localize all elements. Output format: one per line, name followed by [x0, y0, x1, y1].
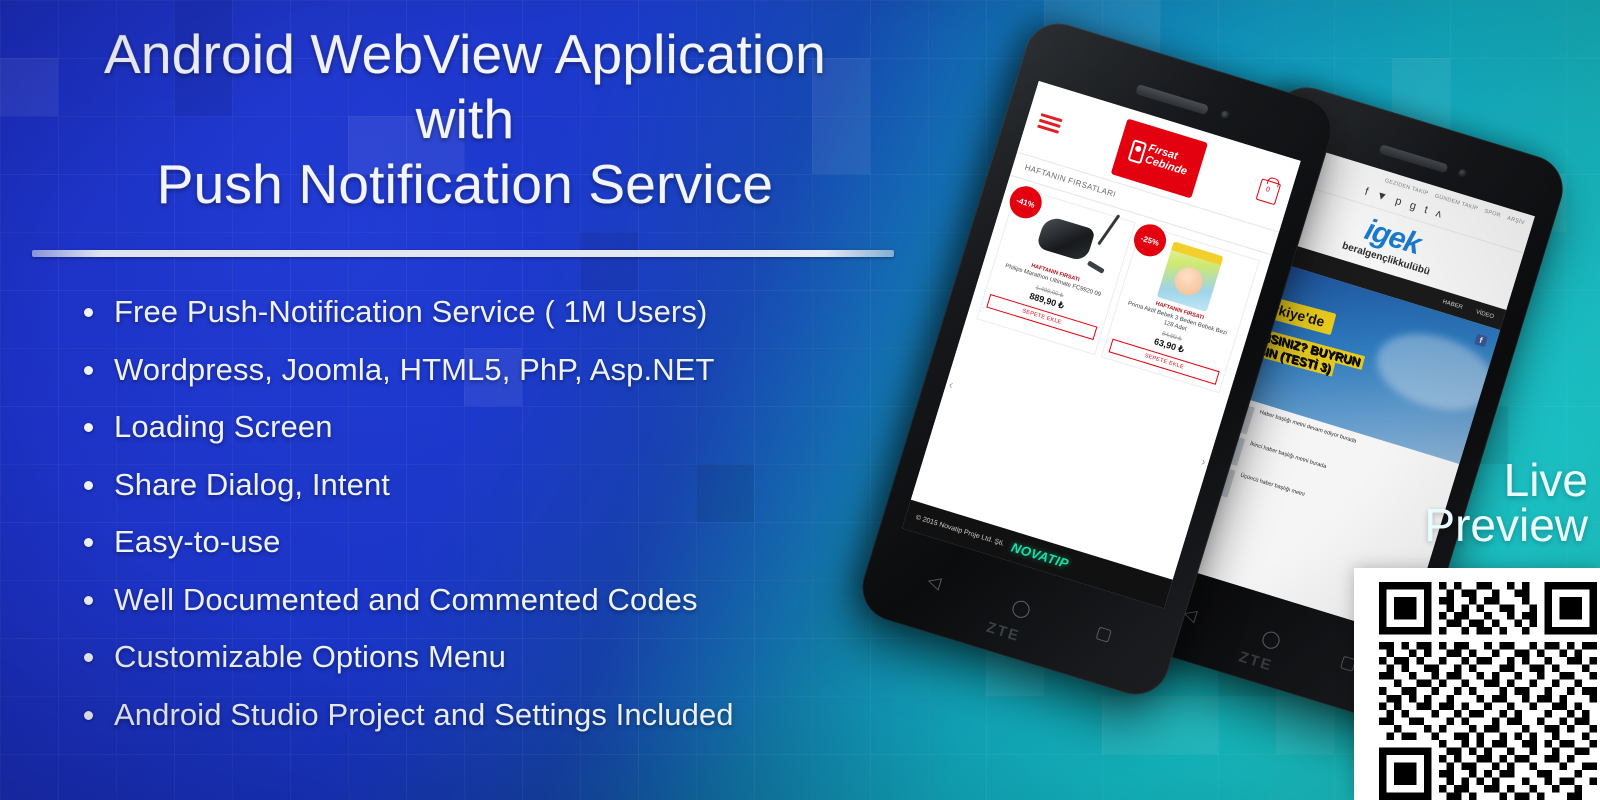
live-preview-line-1: Live [1288, 458, 1588, 503]
live-preview-label: Live Preview [1288, 458, 1588, 548]
promo-banner: Android WebView Application with Push No… [0, 0, 1600, 800]
qr-code-frame[interactable] [1354, 568, 1600, 800]
qr-code[interactable] [1376, 582, 1600, 800]
live-preview-line-2: Preview [1288, 503, 1588, 548]
